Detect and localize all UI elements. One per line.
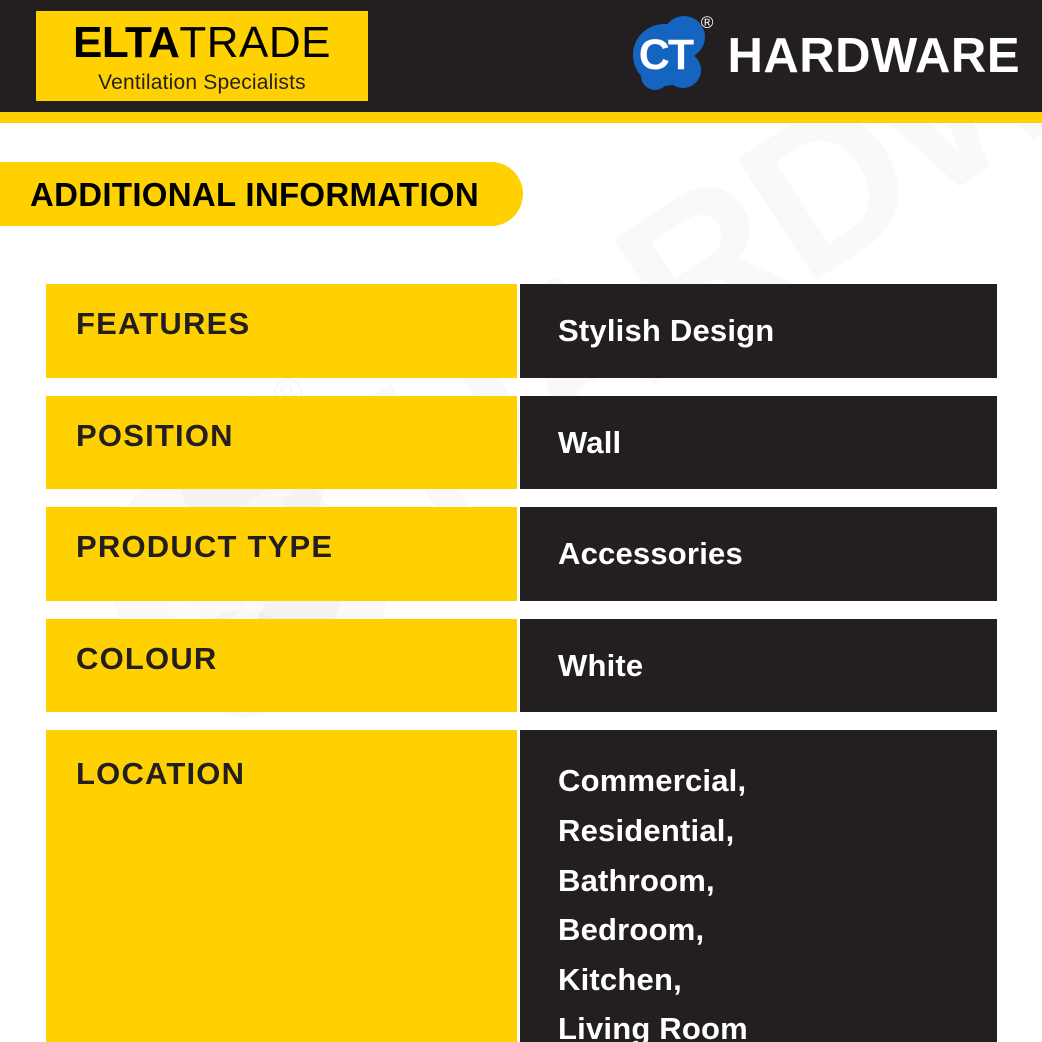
ct-mark-icon: CT ®	[627, 16, 711, 96]
elta-trade-wordmark: ELTATRADE	[73, 21, 331, 65]
spec-value: Wall	[520, 396, 997, 490]
product-info-page: CT ® HARDWARE ELTATRADE Ventilation Spec…	[0, 0, 1042, 1042]
table-row: LOCATION Commercial, Residential, Bathro…	[46, 730, 997, 1042]
table-row: FEATURES Stylish Design	[46, 284, 997, 378]
ct-hardware-logo: CT ® HARDWARE	[627, 14, 1020, 98]
registered-trademark-icon: ®	[701, 14, 714, 31]
ct-hardware-wordmark: HARDWARE	[727, 32, 1020, 81]
additional-information-table: FEATURES Stylish Design POSITION Wall PR…	[46, 284, 997, 1042]
table-row: POSITION Wall	[46, 396, 997, 490]
spec-label: PRODUCT TYPE	[46, 507, 517, 601]
ct-letters: CT	[627, 16, 703, 94]
page-header: ELTATRADE Ventilation Specialists CT ® H…	[0, 0, 1042, 112]
table-row: PRODUCT TYPE Accessories	[46, 507, 997, 601]
elta-light-text: TRADE	[179, 18, 331, 67]
spec-value: White	[520, 619, 997, 713]
spec-value: Accessories	[520, 507, 997, 601]
elta-bold-text: ELTA	[73, 18, 179, 67]
section-banner: ADDITIONAL INFORMATION	[0, 162, 523, 226]
elta-tagline: Ventilation Specialists	[98, 72, 306, 93]
spec-value: Commercial, Residential, Bathroom, Bedro…	[520, 730, 997, 1042]
spec-label: FEATURES	[46, 284, 517, 378]
spec-value: Stylish Design	[520, 284, 997, 378]
spec-label: POSITION	[46, 396, 517, 490]
spec-label: COLOUR	[46, 619, 517, 713]
spec-label: LOCATION	[46, 730, 517, 1042]
page-title: ADDITIONAL INFORMATION	[30, 178, 479, 211]
elta-trade-logo: ELTATRADE Ventilation Specialists	[36, 11, 368, 101]
table-row: COLOUR White	[46, 619, 997, 713]
header-accent-stripe	[0, 112, 1042, 123]
